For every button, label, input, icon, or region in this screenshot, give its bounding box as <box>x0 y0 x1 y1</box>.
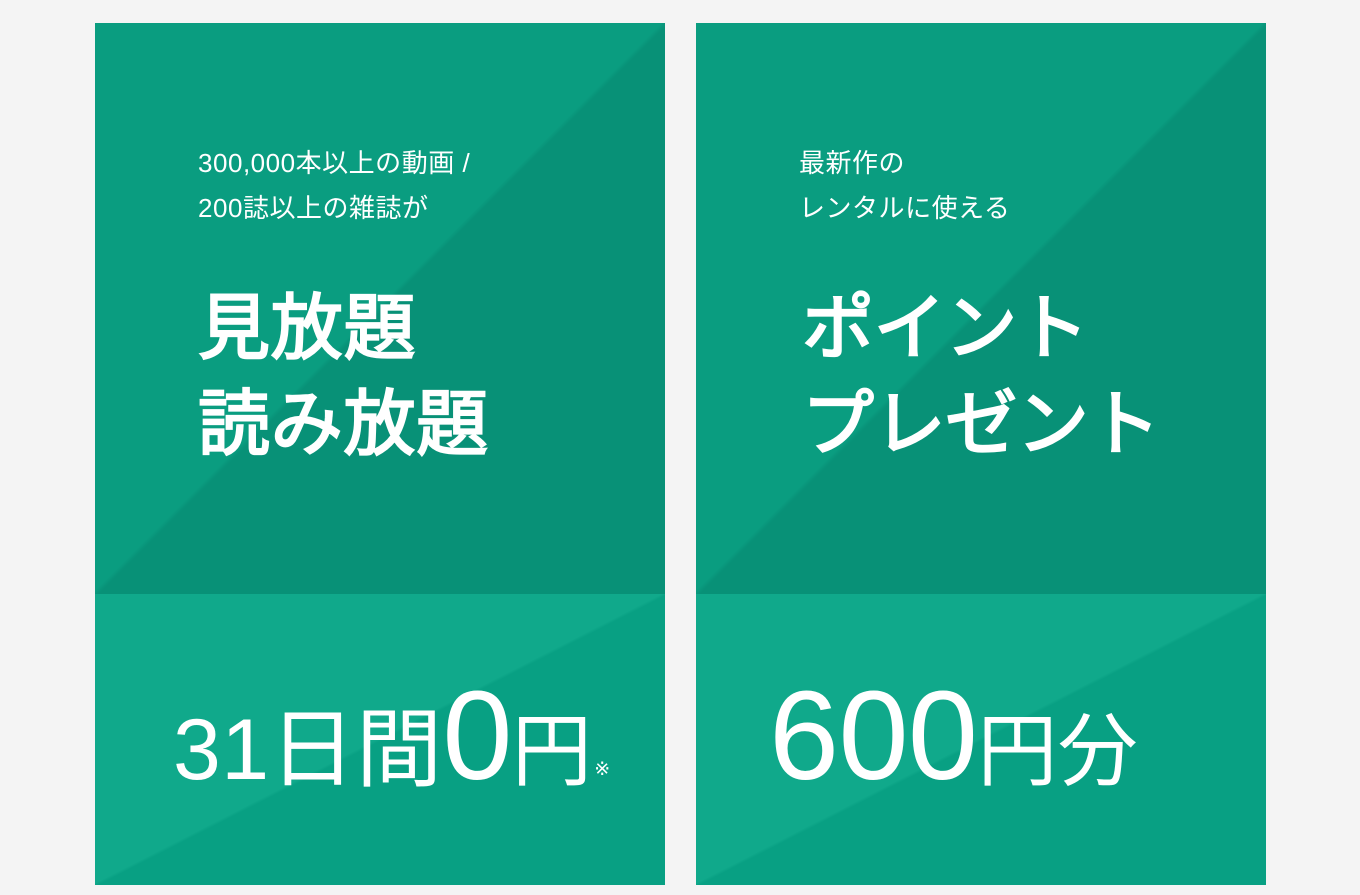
price-amount: 600 <box>769 673 977 799</box>
price-footnote-mark-icon: ※ <box>594 760 610 779</box>
promo-board: 300,000本以上の動画 / 200誌以上の雑誌が 見放題 読み放題 31日間… <box>0 0 1360 895</box>
price-unit: 円 <box>512 712 592 792</box>
card-headline: 見放題 読み放題 <box>198 281 489 474</box>
card-price-row: 31日間 0 円 ※ <box>95 673 665 799</box>
price-amount: 0 <box>442 673 511 799</box>
card-lead-text: 300,000本以上の動画 / 200誌以上の雑誌が <box>198 141 470 230</box>
card-lower-band: 600 円分 <box>696 594 1266 885</box>
card-lead-text: 最新作の レンタルに使える <box>799 141 1010 230</box>
card-upper-band: 最新作の レンタルに使える ポイント プレゼント <box>696 23 1266 594</box>
card-headline: ポイント プレゼント <box>802 281 1160 474</box>
price-prefix: 31日間 <box>173 707 442 793</box>
promo-card-point-present[interactable]: 最新作の レンタルに使える ポイント プレゼント 600 円分 <box>696 23 1266 885</box>
price-unit: 円分 <box>977 712 1138 792</box>
card-lower-band: 31日間 0 円 ※ <box>95 594 665 885</box>
card-price-row: 600 円分 <box>696 673 1266 799</box>
card-upper-band: 300,000本以上の動画 / 200誌以上の雑誌が 見放題 読み放題 <box>95 23 665 594</box>
promo-card-watch-and-read-unlimited[interactable]: 300,000本以上の動画 / 200誌以上の雑誌が 見放題 読み放題 31日間… <box>95 23 665 885</box>
